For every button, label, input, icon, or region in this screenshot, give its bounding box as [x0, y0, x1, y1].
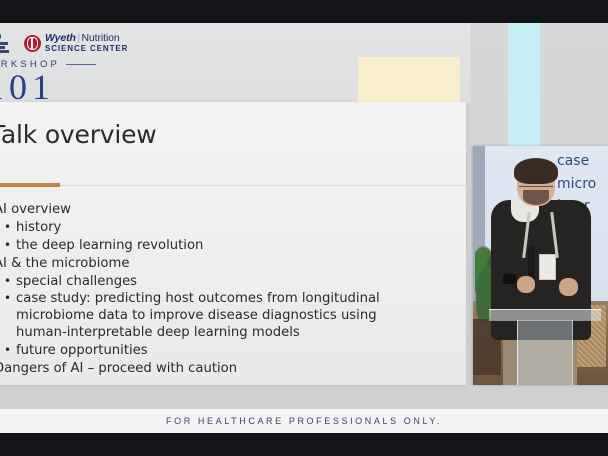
slide-bullet-3: AI & the microbiome — [0, 256, 414, 273]
legal-banner-text: FOR HEALTHCARE PROFESSIONALS ONLY. — [166, 416, 442, 426]
slide-bullet-5: case study: predicting host outcomes fro… — [0, 291, 416, 342]
wyeth-seal-icon — [24, 35, 41, 52]
logo-row: Wyeth|Nutrition SCIENCE CENTER — [0, 29, 128, 57]
video-frame: Wyeth|Nutrition SCIENCE CENTER WORKSHOP … — [0, 23, 608, 433]
logo-bar-2 — [0, 46, 5, 49]
pip-bg-line-1: micro — [557, 173, 608, 196]
speaker-video-overlay[interactable]: casemicrointerfuturvs — [473, 146, 608, 385]
pip-speaker-beard — [523, 190, 549, 205]
screen-capture: Wyeth|Nutrition SCIENCE CENTER WORKSHOP … — [0, 0, 608, 456]
wyeth-primary-line: Wyeth|Nutrition — [45, 33, 128, 44]
slide-bullet-6: future opportunities — [0, 343, 414, 360]
pip-speaker-hand-right — [559, 278, 578, 296]
legal-banner: FOR HEALTHCARE PROFESSIONALS ONLY. — [0, 409, 608, 433]
workshop-rule — [66, 64, 96, 66]
cream-decor-card — [358, 57, 460, 104]
wyeth-science-center-line: SCIENCE CENTER — [45, 45, 128, 53]
pip-speaker-badge — [539, 254, 556, 280]
presentation-slide: Talk overview AI overviewhistorythe deep… — [0, 102, 466, 385]
wyeth-nutrition-word: Nutrition — [81, 32, 119, 44]
letterbox-bottom — [0, 433, 608, 456]
logo-bar-3 — [0, 50, 9, 53]
slide-bullet-0: AI overview — [0, 202, 414, 219]
letterbox-top — [0, 0, 608, 23]
wyeth-brand-name: Wyeth — [45, 32, 76, 44]
glasses-icon — [519, 178, 553, 187]
pip-lectern-body — [517, 320, 573, 385]
slide-bullet-7: Dangers of AI – proceed with caution — [0, 361, 414, 378]
wyeth-nutrition-science-center-logo: Wyeth|Nutrition SCIENCE CENTER — [24, 33, 128, 54]
slide-title-accent-bar — [0, 183, 60, 187]
bird-mark-icon — [0, 32, 1, 41]
pip-bg-line-0: case — [557, 150, 608, 173]
wyeth-wordmark: Wyeth|Nutrition SCIENCE CENTER — [45, 33, 128, 54]
microphone-icon — [528, 246, 535, 280]
slide-title: Talk overview — [0, 120, 157, 149]
pip-speaker-hand-left — [517, 276, 535, 293]
workshop-number: 101 — [0, 69, 55, 105]
slide-bullet-list: AI overviewhistorythe deep learning revo… — [0, 202, 414, 379]
nestle-nutrition-institute-logo — [0, 31, 18, 55]
logo-bar-1 — [0, 42, 8, 45]
slide-bullet-1: history — [0, 220, 414, 237]
slide-title-rule — [0, 185, 466, 186]
pip-speaker-watch — [503, 274, 516, 284]
slide-bullet-4: special challenges — [0, 274, 414, 291]
slide-bullet-2: the deep learning revolution — [0, 238, 414, 255]
